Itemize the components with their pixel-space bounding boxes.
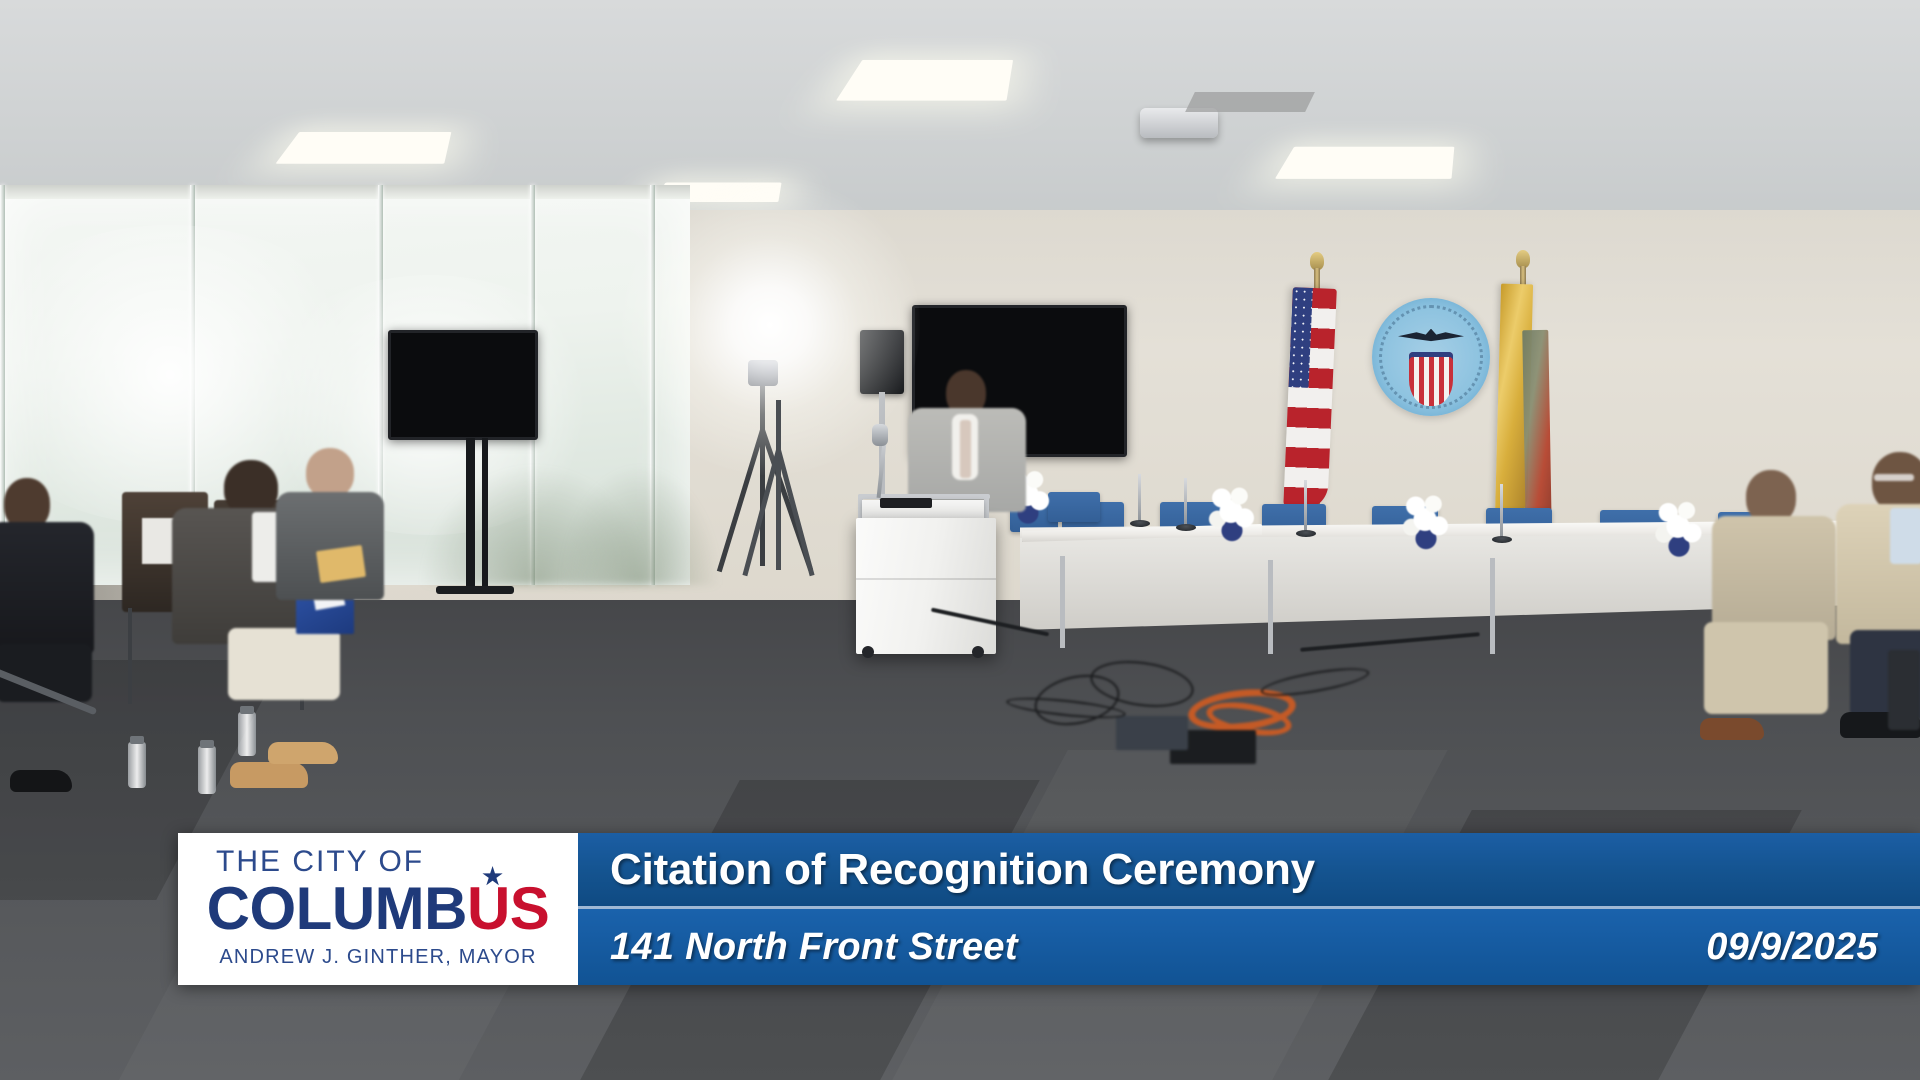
ceiling-light-panel <box>275 132 451 164</box>
attendee-shoe <box>268 742 338 764</box>
microphone-capsule <box>872 424 888 446</box>
manila-envelope <box>316 545 366 583</box>
microphone-base <box>1492 536 1512 543</box>
banner-title-bar: Citation of Recognition Ceremony <box>578 833 1920 909</box>
logo-line-the-city-of: THE CITY OF <box>216 847 424 877</box>
water-bottle <box>128 742 146 788</box>
floral-arrangement <box>1206 482 1258 546</box>
table-microphone <box>1500 484 1503 538</box>
bottle-cap <box>130 736 144 744</box>
seated-attendee-left-1 <box>0 478 110 708</box>
foliage-through-window <box>560 465 720 585</box>
table-leg <box>1490 558 1495 654</box>
banner-text-area: Citation of Recognition Ceremony 141 Nor… <box>578 833 1920 985</box>
banner-subtitle-bar: 141 North Front Street 09/9/2025 <box>578 909 1920 985</box>
ceiling-light-panel <box>836 60 1013 101</box>
attendee-torso <box>276 492 384 600</box>
lectern-seam <box>856 578 996 580</box>
attendee-trousers <box>228 628 340 700</box>
speaker-at-podium <box>900 370 1030 510</box>
logo-wordmark-columbus: COLUMBUS ★ <box>207 879 550 939</box>
event-location: 141 North Front Street <box>610 926 1018 969</box>
lower-third-banner: THE CITY OF COLUMBUS ★ ANDREW J. GINTHER… <box>178 833 1920 985</box>
bottle-cap <box>200 740 214 748</box>
projector-mount <box>1185 92 1315 112</box>
microphone-base <box>1176 524 1196 531</box>
monitor-stand-foot <box>436 586 514 594</box>
video-light <box>748 360 778 386</box>
logo-wordmark-columb: COLUMB <box>207 875 467 942</box>
event-date: 09/9/2025 <box>1706 926 1878 969</box>
logo-line-mayor: ANDREW J. GINTHER, MAYOR <box>219 946 536 969</box>
ceiling-projector <box>1140 108 1218 138</box>
water-bottle <box>238 712 256 756</box>
table-microphone <box>1138 474 1141 522</box>
table-microphone <box>1184 478 1187 526</box>
rolling-monitor <box>388 330 538 440</box>
microphone-base <box>1130 520 1150 527</box>
floral-arrangement <box>1400 490 1452 554</box>
table-leg <box>1268 560 1273 654</box>
chair-leg <box>128 608 132 704</box>
document-on-lectern <box>880 498 932 508</box>
table-microphone <box>1304 480 1307 532</box>
flag-canton <box>1289 287 1314 388</box>
logo-star-icon: ★ <box>482 865 502 888</box>
bottle-cap <box>240 706 254 714</box>
attendee-torso <box>0 522 94 654</box>
attendee-trousers <box>1704 622 1828 714</box>
lectern-caster <box>972 646 984 658</box>
microphone-base <box>1296 530 1316 537</box>
attendee-head <box>306 448 354 498</box>
pa-speaker <box>860 330 904 394</box>
lectern <box>856 518 996 654</box>
tripod-leg <box>760 386 765 566</box>
attendee-head <box>1872 452 1920 512</box>
seated-attendee-left-3 <box>248 448 388 618</box>
attendee-shoe <box>230 762 308 788</box>
conference-chair <box>1048 492 1100 522</box>
event-title: Citation of Recognition Ceremony <box>610 845 1315 895</box>
table-leg <box>1060 556 1065 648</box>
office-chair-base <box>1888 650 1920 730</box>
seal-shield-icon <box>1409 352 1453 406</box>
cable-bundle <box>1020 656 1350 796</box>
city-of-columbus-logo: THE CITY OF COLUMBUS ★ ANDREW J. GINTHER… <box>178 833 578 985</box>
water-bottle <box>198 746 216 794</box>
video-frame: THE CITY OF COLUMBUS ★ ANDREW J. GINTHER… <box>0 0 1920 1080</box>
monitor-stand-pole <box>482 438 488 588</box>
ohio-flag <box>1522 330 1551 530</box>
logo-wordmark-us: US <box>467 875 549 942</box>
city-seal-emblem <box>1372 298 1490 416</box>
attendee-shoe <box>10 770 72 792</box>
ceiling-light-panel <box>1275 147 1454 179</box>
lectern-caster <box>862 646 874 658</box>
glass-header-trim <box>0 185 690 199</box>
monitor-stand-pole <box>466 438 475 593</box>
audio-interface <box>1116 716 1188 750</box>
attendee-shoe <box>1700 718 1764 740</box>
attendee-dress-shirt <box>1890 508 1920 564</box>
attendee-eyeglasses <box>1874 474 1914 481</box>
speaker-necktie <box>960 420 971 478</box>
tripod-leg <box>776 400 781 570</box>
